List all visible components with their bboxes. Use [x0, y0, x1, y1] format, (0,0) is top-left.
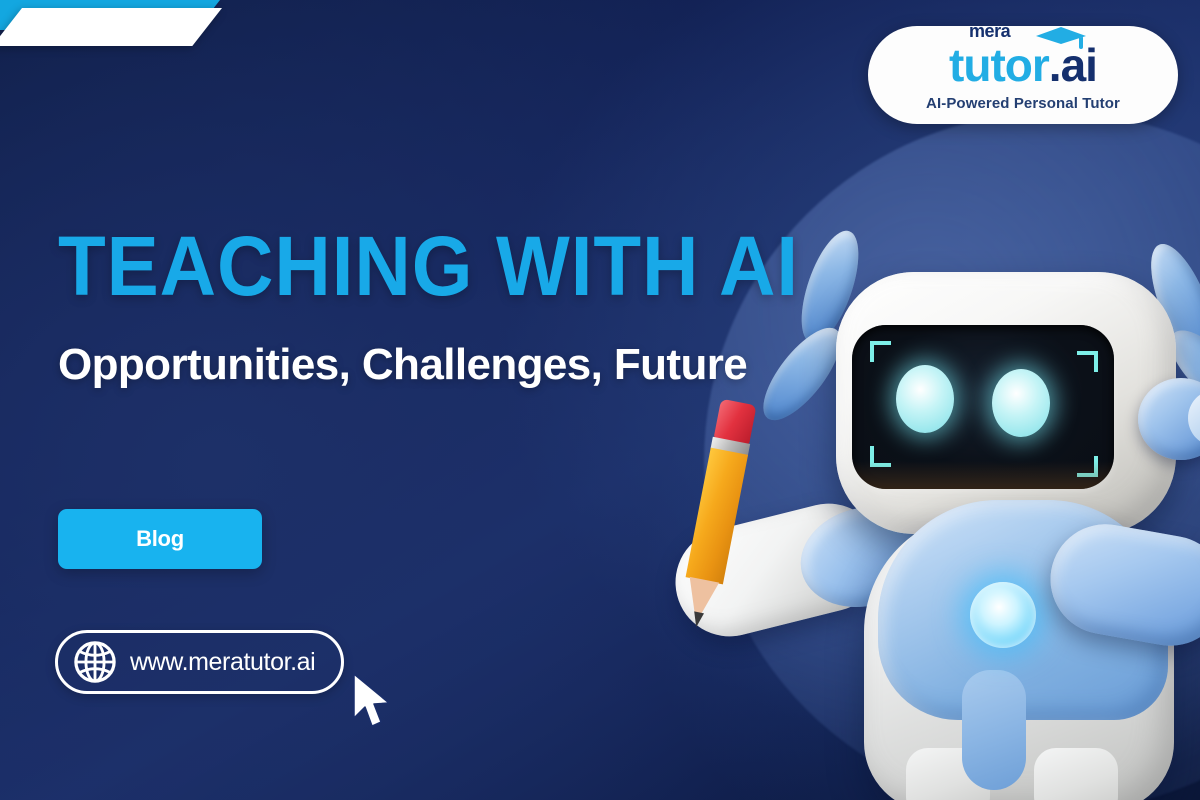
website-url-pill[interactable]: www.meratutor.ai — [55, 630, 344, 694]
logo-mera-text: mera — [969, 22, 1010, 40]
logo-wordmark: mera tutor . ai — [949, 42, 1097, 88]
page-title: TEACHING WITH AI — [58, 230, 799, 304]
globe-icon — [74, 641, 116, 683]
blog-button[interactable]: Blog — [58, 509, 262, 569]
page-subtitle: Opportunities, Challenges, Future — [58, 333, 818, 396]
face-bracket-top-left-icon — [870, 341, 891, 362]
cursor-arrow-icon — [350, 672, 396, 730]
logo-tagline: AI-Powered Personal Tutor — [926, 95, 1120, 112]
graduation-cap-icon — [1035, 26, 1087, 50]
poster-canvas: mera tutor . ai AI-Powered Personal Tuto… — [0, 0, 1200, 800]
robot-chest-light-icon — [970, 582, 1036, 648]
robot-face-screen — [852, 325, 1114, 489]
website-url-text: www.meratutor.ai — [130, 648, 315, 677]
face-bracket-bottom-right-icon — [1077, 456, 1098, 477]
robot-torso-panel-tail — [962, 670, 1026, 790]
brand-logo[interactable]: mera tutor . ai AI-Powered Personal Tuto… — [868, 26, 1178, 124]
corner-ribbon-white — [0, 8, 222, 46]
face-bracket-bottom-left-icon — [870, 446, 891, 467]
robot-eye-right — [992, 369, 1050, 437]
face-bracket-top-right-icon — [1077, 351, 1098, 372]
logo-tutor-text: tutor — [949, 42, 1049, 88]
robot-eye-left — [896, 365, 954, 433]
robot-leg-right — [1034, 748, 1118, 800]
pencil-tip — [691, 611, 704, 628]
